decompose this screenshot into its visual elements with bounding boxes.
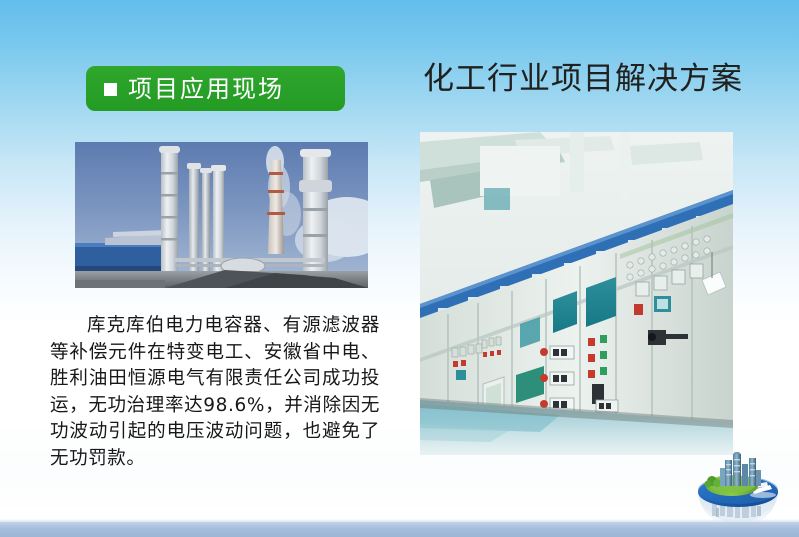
body-paragraph: 库克库伯电力电容器、有源滤波器等补偿元件在特变电工、安徽省中电、胜利油田恒源电气… [50, 313, 380, 472]
switchgear-room-photo [420, 132, 733, 455]
switchgear-illustration [420, 132, 733, 455]
section-badge[interactable]: 项目应用现场 [86, 66, 345, 111]
slide-canvas: 项目应用现场 化工行业项目解决方案 库克库伯电力电容器、有源滤波器等补偿元件在特… [0, 0, 799, 537]
square-bullet-icon [104, 83, 117, 96]
chemical-plant-illustration [75, 142, 368, 288]
page-title: 化工行业项目解决方案 [423, 64, 743, 95]
section-badge-label: 项目应用现场 [128, 77, 284, 101]
bottom-band [0, 522, 799, 537]
chemical-plant-photo [75, 142, 368, 288]
